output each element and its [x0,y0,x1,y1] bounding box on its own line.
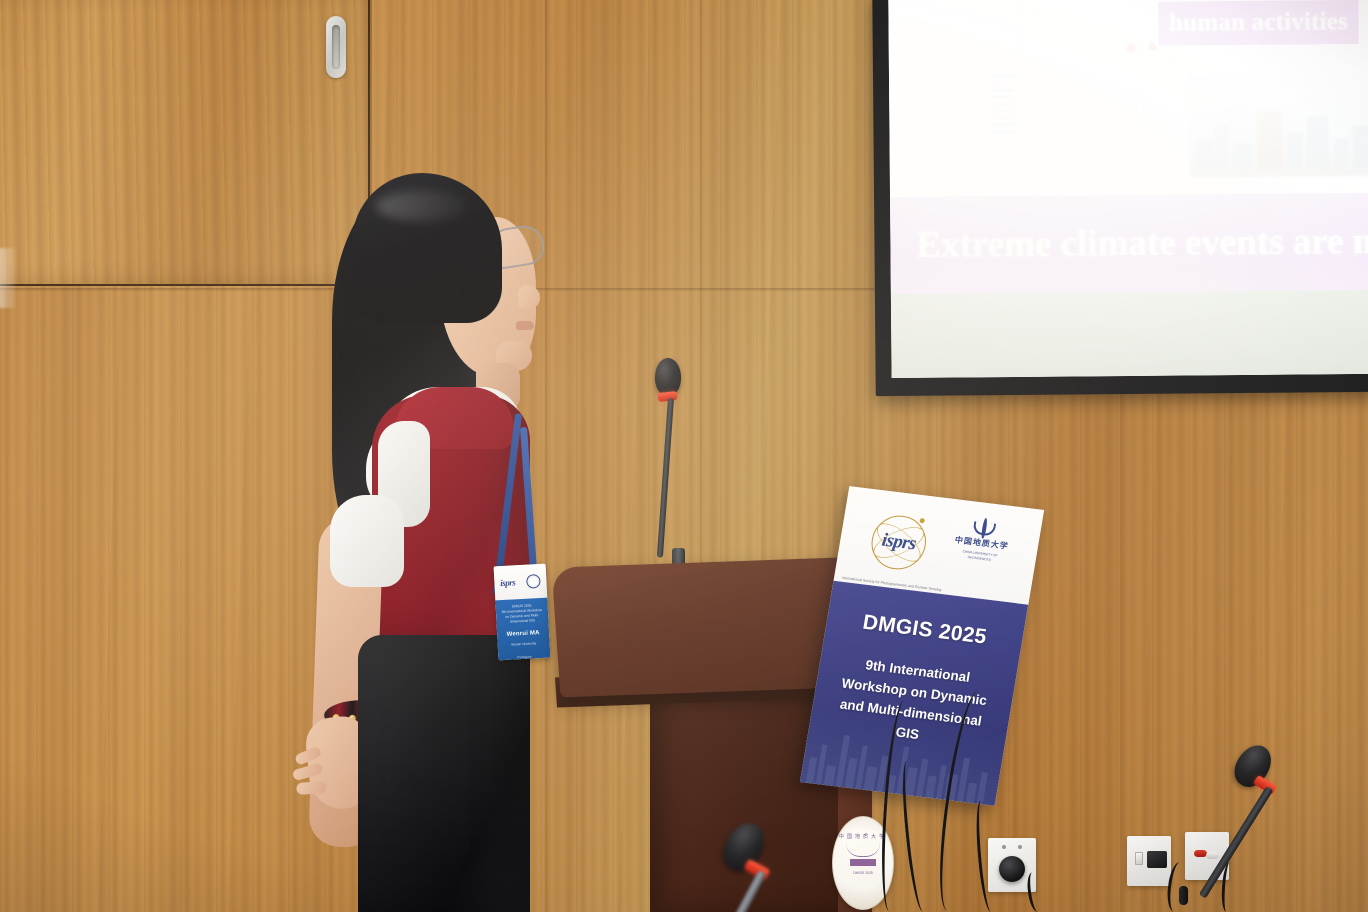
slide-annotation-dot [1127,44,1136,53]
isprs-logo-icon: isprs International Society for Photogra… [863,508,935,577]
presentation-photo: human activities Extreme climate events … [0,0,1368,912]
projection-screen-surface: human activities Extreme climate events … [888,0,1368,378]
emblem-band [850,859,876,866]
badge-affiliation: Wuhan University [502,641,546,648]
sign-event-title: DMGIS 2025 [839,608,1010,652]
sign-title-block: DMGIS 2025 9th International Workshop on… [800,581,1028,806]
slide-legend [993,74,1016,134]
projection-screen: human activities Extreme climate events … [872,0,1368,396]
microphone-windscreen [655,358,681,396]
av-plug [1147,851,1167,868]
slide-footer-band [891,290,1368,378]
network-av-plate[interactable] [1127,836,1171,886]
emblem-body-text: DMGIS 2025 [841,871,885,876]
university-seal-icon [981,518,988,539]
emblem-arc-text: 中国地质大学 [839,833,887,840]
emblem-arc-line [846,843,880,857]
presenter: isprs DMGIS 2025 9th International Works… [290,165,590,912]
conference-badge: isprs DMGIS 2025 9th International Works… [494,564,551,661]
slide-headline-text: Extreme climate events are more [890,219,1368,267]
power-plug [999,856,1025,882]
presenter-hair-highlight [376,191,468,221]
rca-white-jack [1206,852,1219,859]
presenter-nose [518,285,540,309]
slide-highlight-box: human activities [1158,0,1358,46]
slide-cityscape-photo [1188,66,1368,178]
badge-details: DMGIS 2025 9th International Workshop on… [495,598,550,661]
wall-panel-edge [0,248,16,308]
presenter-sleeve-lower [330,495,404,587]
presenter-skirt [358,635,530,912]
badge-logo-row: isprs [494,564,548,601]
data-jack [1135,852,1143,865]
slide: human activities Extreme climate events … [888,0,1368,378]
cabinet-handle-icon[interactable] [326,16,346,78]
badge-event-subtitle: 9th International Workshop on Dynamic an… [500,608,545,626]
presenter-lips [516,321,534,330]
isprs-wordmark: isprs [880,530,917,556]
slide-highlight-text: human activities [1169,8,1348,38]
university-seal-icon [526,574,541,589]
isprs-logo-icon: isprs [500,577,516,588]
slide-headline-band: Extreme climate events are more [890,193,1368,294]
slide-annotation-arrow [1147,40,1158,51]
badge-holder-name: Wenrui MA [501,630,545,638]
university-logo-icon: 中国地质大学 CHINA UNIVERSITY OF GEOSCIENCES [946,516,1015,588]
